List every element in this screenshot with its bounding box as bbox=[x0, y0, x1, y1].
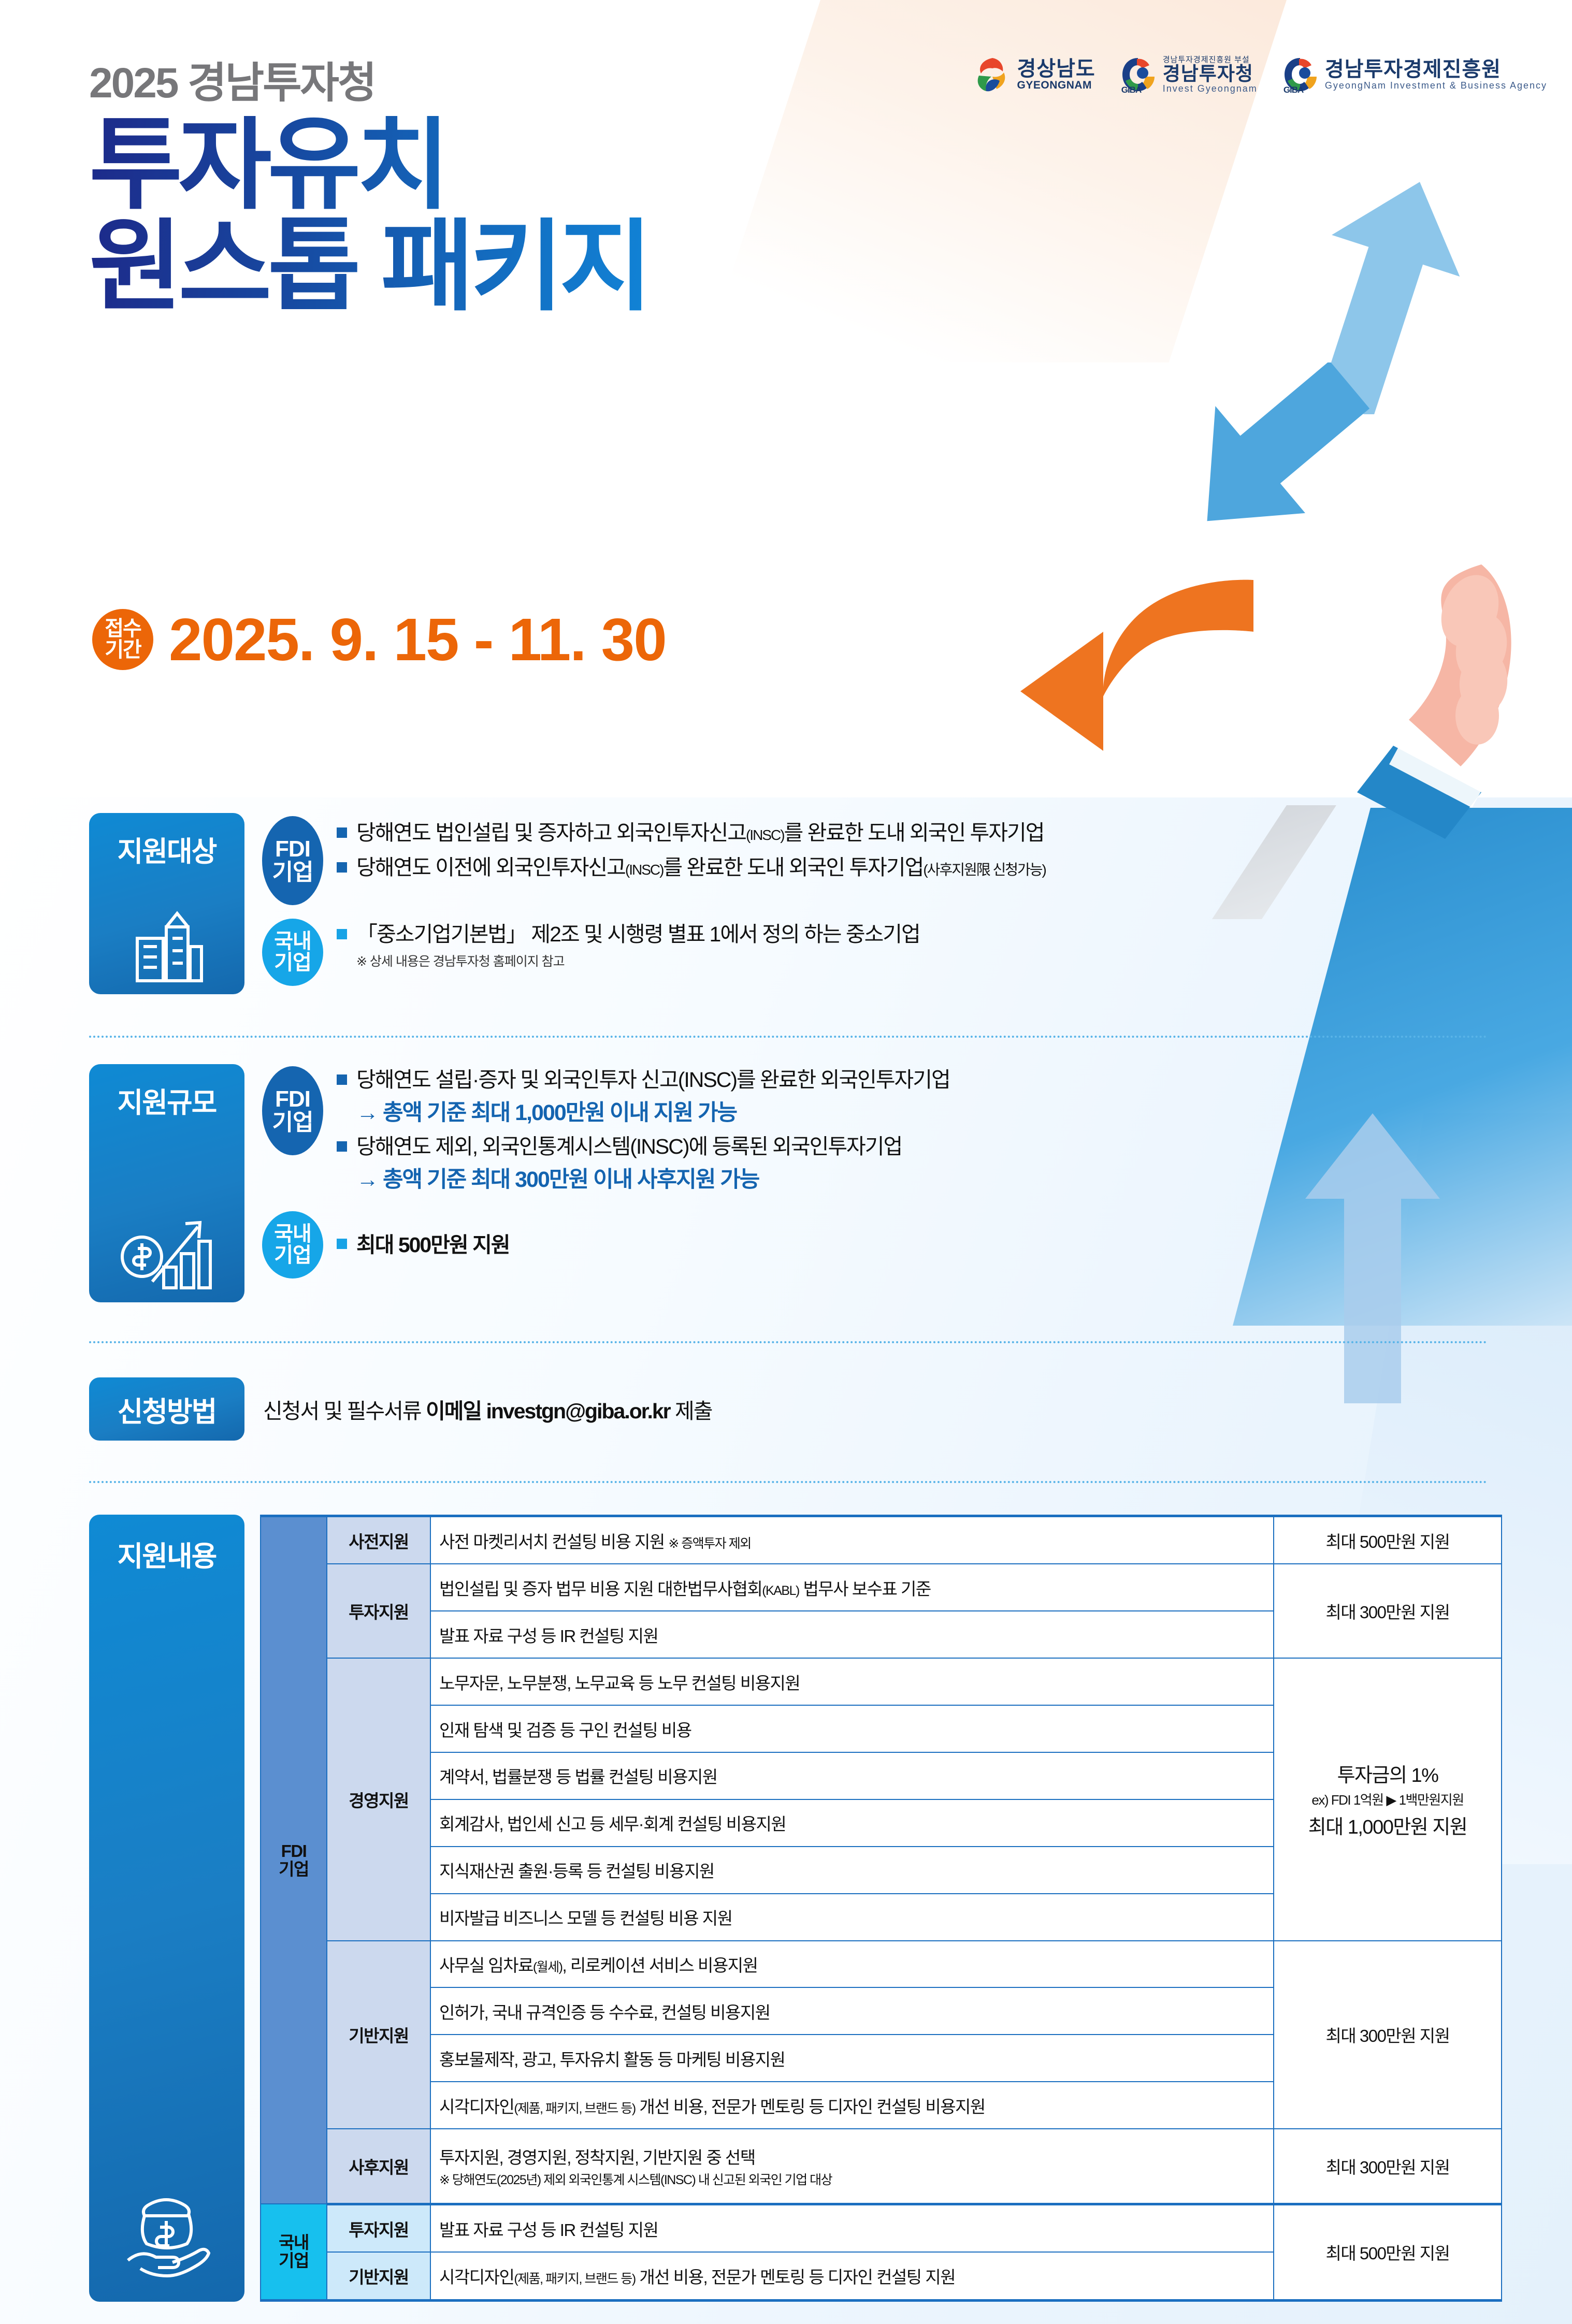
apply-instruction: 신청서 및 필수서류 이메일 investgn@giba.or.kr 제출 bbox=[263, 1393, 712, 1425]
table-amount: 최대 300만원 지원 bbox=[1274, 2129, 1502, 2204]
table-amount-multi: 투자금의 1% ex) FDI 1억원 ▶ 1백만원지원 최대 1,000만원 … bbox=[1274, 1658, 1502, 1940]
table-desc: 인재 탐색 및 검증 등 구인 컨설팅 비용 bbox=[430, 1705, 1274, 1752]
table-row: 기반지원 사무실 임차료(월세), 리로케이션 서비스 비용지원 최대 300만… bbox=[261, 1941, 1502, 1988]
table-amount: 최대 500만원 지원 bbox=[1274, 1516, 1502, 1564]
bullet-item: 최대 500만원 지원 bbox=[337, 1231, 510, 1259]
bullet-text: 「중소기업기본법」 제2조 및 시행령 별표 1에서 정의 하는 중소기업 bbox=[356, 921, 920, 948]
table-desc-note: ※ 당해연도(2025년) 제외 외국인통계 시스템(INSC) 내 신고된 외… bbox=[439, 2170, 1265, 2188]
table-row: 투자지원 법인설립 및 증자 법무 비용 지원 대한법무사협회(KABL) 법무… bbox=[261, 1564, 1502, 1611]
logo-giba-agency: GIBA 경남투자경제진흥원 GyeongNam Investment & Bu… bbox=[1281, 56, 1547, 93]
section-badge-apply: 신청방법 bbox=[89, 1377, 244, 1441]
highlight-line: → 총액 기준 최대 1,000만원 이내 지원 가능 bbox=[356, 1099, 950, 1128]
table-subcat: 투자지원 bbox=[327, 1564, 430, 1658]
table-desc: 노무자문, 노무분쟁, 노무교육 등 노무 컨설팅 비용지원 bbox=[430, 1658, 1274, 1705]
table-desc: 사무실 임차료(월세), 리로케이션 서비스 비용지원 bbox=[430, 1941, 1274, 1988]
hand-illustration bbox=[1238, 549, 1528, 839]
pill-fdi-target: FDI 기업 bbox=[262, 816, 323, 905]
section-badge-label-1: 지원규모 bbox=[118, 1080, 217, 1121]
table-desc: 법인설립 및 증자 법무 비용 지원 대한법무사협회(KABL) 법무사 보수표… bbox=[430, 1564, 1274, 1611]
table-desc-text: 투자지원, 경영지원, 정착지원, 기반지원 중 선택 bbox=[439, 2148, 755, 2167]
section-badge-support-content: 지원내용 bbox=[89, 1515, 244, 2302]
pill-domestic-line2: 기업 bbox=[274, 1245, 311, 1266]
table-row: 국내기업 투자지원 발표 자료 구성 등 IR 컨설팅 지원 최대 500만원 … bbox=[261, 2204, 1502, 2252]
section-support-target: 지원대상 FDI 기업 bbox=[89, 813, 1046, 994]
bullet-text: 당해연도 법인설립 및 증자하고 외국인투자신고(INSC)를 완료한 도내 외… bbox=[356, 819, 1044, 847]
section-badge-label-0: 지원대상 bbox=[118, 829, 217, 869]
logo-invest-gyeongnam-text: 경남투자경제진흥원 부설 경남투자청 Invest Gyeongnam bbox=[1163, 56, 1258, 94]
table-desc-paren: (월세) bbox=[533, 1960, 563, 1974]
table-desc-tail: , 리로케이션 서비스 비용지원 bbox=[563, 1956, 758, 1975]
table-desc: 지식재산권 출원·등록 등 컨설팅 비용지원 bbox=[430, 1847, 1274, 1894]
logo-group: 경상남도 GYEONGNAM GIBA 경남투자경제진흥원 부설 경남투자청 I… bbox=[974, 56, 1547, 94]
amount-example: ex) FDI 1억원 ▶ 1백만원지원 bbox=[1282, 1790, 1493, 1809]
table-desc-text: 법인설립 및 증자 법무 비용 지원 대한법무사협회 bbox=[439, 1579, 762, 1599]
table-desc: 투자지원, 경영지원, 정착지원, 기반지원 중 선택 ※ 당해연도(2025년… bbox=[430, 2129, 1274, 2204]
bullet-item: 당해연도 제외, 외국인통계시스템(INSC)에 등록된 외국인투자기업 bbox=[337, 1133, 950, 1160]
section-badge-label-table: 지원내용 bbox=[118, 1533, 217, 1574]
bullet-square-icon bbox=[337, 1141, 347, 1152]
medium-blue-arrow-up-icon bbox=[1165, 362, 1383, 533]
table-desc: 사전 마켓리서치 컨설팅 비용 지원 ※ 증액투자 제외 bbox=[430, 1516, 1274, 1564]
table-desc-text: 시각디자인 bbox=[439, 2268, 514, 2287]
logo-invest-en: Invest Gyeongnam bbox=[1163, 84, 1258, 94]
section-support-scale: 지원규모 FDI bbox=[89, 1064, 950, 1302]
period-dates: 2025. 9. 15 - 11. 30 bbox=[169, 609, 666, 670]
page-title-line1: 투자유치 bbox=[89, 116, 648, 213]
table-subcat: 기반지원 bbox=[327, 2252, 430, 2300]
table-desc: 시각디자인(제품, 패키지, 브랜드 등) 개선 비용, 전문가 멘토링 등 디… bbox=[430, 2252, 1274, 2300]
table-subcat: 경영지원 bbox=[327, 1658, 430, 1940]
table-desc: 홍보물제작, 광고, 투자유치 활동 등 마케팅 비용지원 bbox=[430, 2035, 1274, 2082]
section-support-content: 지원내용 FDI기업 사전지원 사전 마켓리서치 컨설팅 비용 지원 ※ 증액투… bbox=[89, 1515, 1502, 2302]
period-badge: 접수 기간 bbox=[92, 609, 153, 670]
giba-wordmark: GIBA bbox=[1121, 85, 1142, 95]
logo-gyeongnam: 경상남도 GYEONGNAM bbox=[974, 56, 1095, 93]
table-amount: 최대 300만원 지원 bbox=[1274, 1564, 1502, 1658]
table-subcat: 기반지원 bbox=[327, 1941, 430, 2129]
orange-arrow-icon bbox=[1010, 559, 1259, 766]
bullet-text-suffix: (사후지원限 신청가능) bbox=[923, 862, 1046, 878]
pale-blue-arrow-up-icon bbox=[1295, 1113, 1450, 1403]
pill-domestic-line1: 국내 bbox=[274, 1224, 311, 1245]
pill-fdi-line1: FDI bbox=[275, 1087, 310, 1111]
page-title-year: 2025 경남투자청 bbox=[89, 62, 648, 105]
pill-domestic-scale: 국내 기업 bbox=[262, 1211, 323, 1279]
building-icon bbox=[89, 906, 244, 984]
pill-fdi-scale: FDI 기업 bbox=[262, 1066, 323, 1155]
table-desc-tail: 개선 비용, 전문가 멘토링 등 디자인 컨설팅 지원 bbox=[636, 2268, 955, 2287]
bullet-text-tail: 를 완료한 도내 외국인 투자기업 bbox=[784, 821, 1044, 845]
table-desc-text: 사무실 임차료 bbox=[439, 1956, 533, 1975]
pill-domestic-line1: 국내 bbox=[274, 931, 311, 952]
logo-giba-agency-text: 경남투자경제진흥원 GyeongNam Investment & Busines… bbox=[1325, 59, 1547, 90]
table-row: FDI기업 사전지원 사전 마켓리서치 컨설팅 비용 지원 ※ 증액투자 제외 … bbox=[261, 1516, 1502, 1564]
bullet-text-paren: (INSC) bbox=[746, 827, 784, 843]
bullet-text-main: 당해연도 이전에 외국인투자신고 bbox=[356, 855, 625, 879]
pill-fdi-line2: 기업 bbox=[272, 861, 313, 884]
bullet-square-icon bbox=[337, 1074, 347, 1085]
logo-giba-ko: 경남투자경제진흥원 bbox=[1325, 59, 1547, 81]
section-badge-support-target: 지원대상 bbox=[89, 813, 244, 994]
table-desc: 회계감사, 법인세 신고 등 세무·회계 컨설팅 비용지원 bbox=[430, 1799, 1274, 1847]
bullet-text-main: 당해연도 법인설립 및 증자하고 외국인투자신고 bbox=[356, 821, 746, 845]
divider bbox=[89, 1481, 1488, 1483]
table-desc: 계약서, 법률분쟁 등 법률 컨설팅 비용지원 bbox=[430, 1752, 1274, 1799]
logo-gyeongnam-en: GYEONGNAM bbox=[1017, 80, 1095, 91]
bullet-square-icon bbox=[337, 827, 347, 838]
divider bbox=[89, 1036, 1488, 1038]
table-amount: 최대 500만원 지원 bbox=[1274, 2204, 1502, 2300]
table-desc-paren: (KABL) bbox=[762, 1584, 799, 1598]
bullet-text: 당해연도 제외, 외국인통계시스템(INSC)에 등록된 외국인투자기업 bbox=[356, 1133, 902, 1160]
bullet-item: 당해연도 설립·증자 및 외국인투자 신고(INSC)를 완료한 외국인투자기업 bbox=[337, 1066, 950, 1094]
bullet-square-icon bbox=[337, 929, 347, 939]
growth-chart-icon bbox=[89, 1209, 244, 1292]
pill-fdi-line1: FDI bbox=[275, 837, 310, 861]
poster-title-block: 2025 경남투자청 투자유치 원스톱 패키지 bbox=[89, 62, 648, 315]
apply-suffix: 제출 bbox=[670, 1399, 712, 1423]
giba-emblem-icon-2: GIBA bbox=[1281, 56, 1319, 93]
bullet-item: 당해연도 이전에 외국인투자신고(INSC)를 완료한 도내 외국인 투자기업(… bbox=[337, 854, 1046, 881]
logo-giba-en: GyeongNam Investment & Business Agency bbox=[1325, 81, 1547, 91]
bullet-square-icon bbox=[337, 862, 347, 873]
table-desc: 발표 자료 구성 등 IR 컨설팅 지원 bbox=[430, 1611, 1274, 1658]
table-desc-paren: (제품, 패키지, 브랜드 등) bbox=[514, 2101, 635, 2116]
page-title-line2: 원스톱 패키지 bbox=[89, 217, 648, 315]
table-desc: 비자발급 비즈니스 모델 등 컨설팅 비용 지원 bbox=[430, 1894, 1274, 1941]
highlight-line: → 총액 기준 최대 300만원 이내 사후지원 가능 bbox=[356, 1166, 950, 1195]
section-apply-method: 신청방법 신청서 및 필수서류 이메일 investgn@giba.or.kr … bbox=[89, 1377, 712, 1441]
pill-domestic-target: 국내 기업 bbox=[262, 919, 323, 986]
logo-gyeongnam-text: 경상남도 GYEONGNAM bbox=[1017, 59, 1095, 91]
giba-emblem-icon: GIBA bbox=[1119, 56, 1157, 93]
amount-line2: 최대 1,000만원 지원 bbox=[1308, 1817, 1467, 1838]
pill-fdi-line2: 기업 bbox=[272, 1111, 313, 1134]
table-desc-note: ※ 증액투자 제외 bbox=[668, 1536, 751, 1551]
bullet-text: 최대 500만원 지원 bbox=[356, 1231, 510, 1259]
bullet-square-icon bbox=[337, 1239, 347, 1249]
section-badge-support-scale: 지원규모 bbox=[89, 1064, 244, 1302]
amount-line1: 투자금의 1% bbox=[1337, 1765, 1438, 1786]
table-subcat: 투자지원 bbox=[327, 2204, 430, 2252]
divider bbox=[89, 1341, 1488, 1343]
pill-domestic-line2: 기업 bbox=[274, 952, 311, 974]
period-badge-line1: 접수 bbox=[105, 618, 141, 640]
application-period: 접수 기간 2025. 9. 15 - 11. 30 bbox=[92, 609, 666, 670]
table-desc-tail: 법무사 보수표 기준 bbox=[799, 1579, 931, 1599]
logo-invest-ko: 경남투자청 bbox=[1163, 64, 1258, 84]
bullet-text-paren: (INSC) bbox=[625, 862, 664, 878]
money-hand-icon bbox=[89, 2183, 244, 2281]
table-subcat: 사전지원 bbox=[327, 1516, 430, 1564]
logo-invest-gyeongnam: GIBA 경남투자경제진흥원 부설 경남투자청 Invest Gyeongnam bbox=[1119, 56, 1258, 94]
table-desc: 발표 자료 구성 등 IR 컨설팅 지원 bbox=[430, 2204, 1274, 2252]
bullet-text: 당해연도 설립·증자 및 외국인투자 신고(INSC)를 완료한 외국인투자기업 bbox=[356, 1066, 950, 1094]
table-row: 경영지원 노무자문, 노무분쟁, 노무교육 등 노무 컨설팅 비용지원 투자금의… bbox=[261, 1658, 1502, 1705]
table-desc: 인허가, 국내 규격인증 등 수수료, 컨설팅 비용지원 bbox=[430, 1987, 1274, 2035]
logo-gyeongnam-ko: 경상남도 bbox=[1017, 59, 1095, 80]
bullet-item: 당해연도 법인설립 및 증자하고 외국인투자신고(INSC)를 완료한 도내 외… bbox=[337, 819, 1046, 847]
table-desc-text: 사전 마켓리서치 컨설팅 비용 지원 bbox=[439, 1532, 665, 1551]
section-note: ※ 상세 내용은 경남투자청 홈페이지 참고 bbox=[356, 951, 920, 970]
table-group-fdi: FDI기업 bbox=[261, 1516, 327, 2204]
table-row: 사후지원 투자지원, 경영지원, 정착지원, 기반지원 중 선택 ※ 당해연도(… bbox=[261, 2129, 1502, 2204]
giba-wordmark-2: GIBA bbox=[1283, 85, 1304, 95]
table-group-domestic: 국내기업 bbox=[261, 2204, 327, 2300]
table-subcat: 사후지원 bbox=[327, 2129, 430, 2204]
apply-email: 이메일 investgn@giba.or.kr bbox=[426, 1399, 670, 1423]
table-desc-text: 시각디자인 bbox=[439, 2097, 514, 2116]
table-desc-tail: 개선 비용, 전문가 멘토링 등 디자인 컨설팅 비용지원 bbox=[636, 2097, 985, 2116]
period-badge-line2: 기간 bbox=[105, 640, 141, 661]
bullet-item: 「중소기업기본법」 제2조 및 시행령 별표 1에서 정의 하는 중소기업 bbox=[337, 921, 920, 948]
gyeongnam-emblem-icon bbox=[974, 56, 1011, 93]
bullet-text: 당해연도 이전에 외국인투자신고(INSC)를 완료한 도내 외국인 투자기업(… bbox=[356, 854, 1046, 881]
support-content-table: FDI기업 사전지원 사전 마켓리서치 컨설팅 비용 지원 ※ 증액투자 제외 … bbox=[260, 1515, 1502, 2302]
table-desc: 시각디자인(제품, 패키지, 브랜드 등) 개선 비용, 전문가 멘토링 등 디… bbox=[430, 2082, 1274, 2129]
apply-prefix: 신청서 및 필수서류 bbox=[263, 1399, 426, 1423]
table-desc-paren: (제품, 패키지, 브랜드 등) bbox=[514, 2272, 635, 2286]
table-amount: 최대 300만원 지원 bbox=[1274, 1941, 1502, 2129]
bullet-text-tail: 를 완료한 도내 외국인 투자기업 bbox=[663, 855, 923, 879]
